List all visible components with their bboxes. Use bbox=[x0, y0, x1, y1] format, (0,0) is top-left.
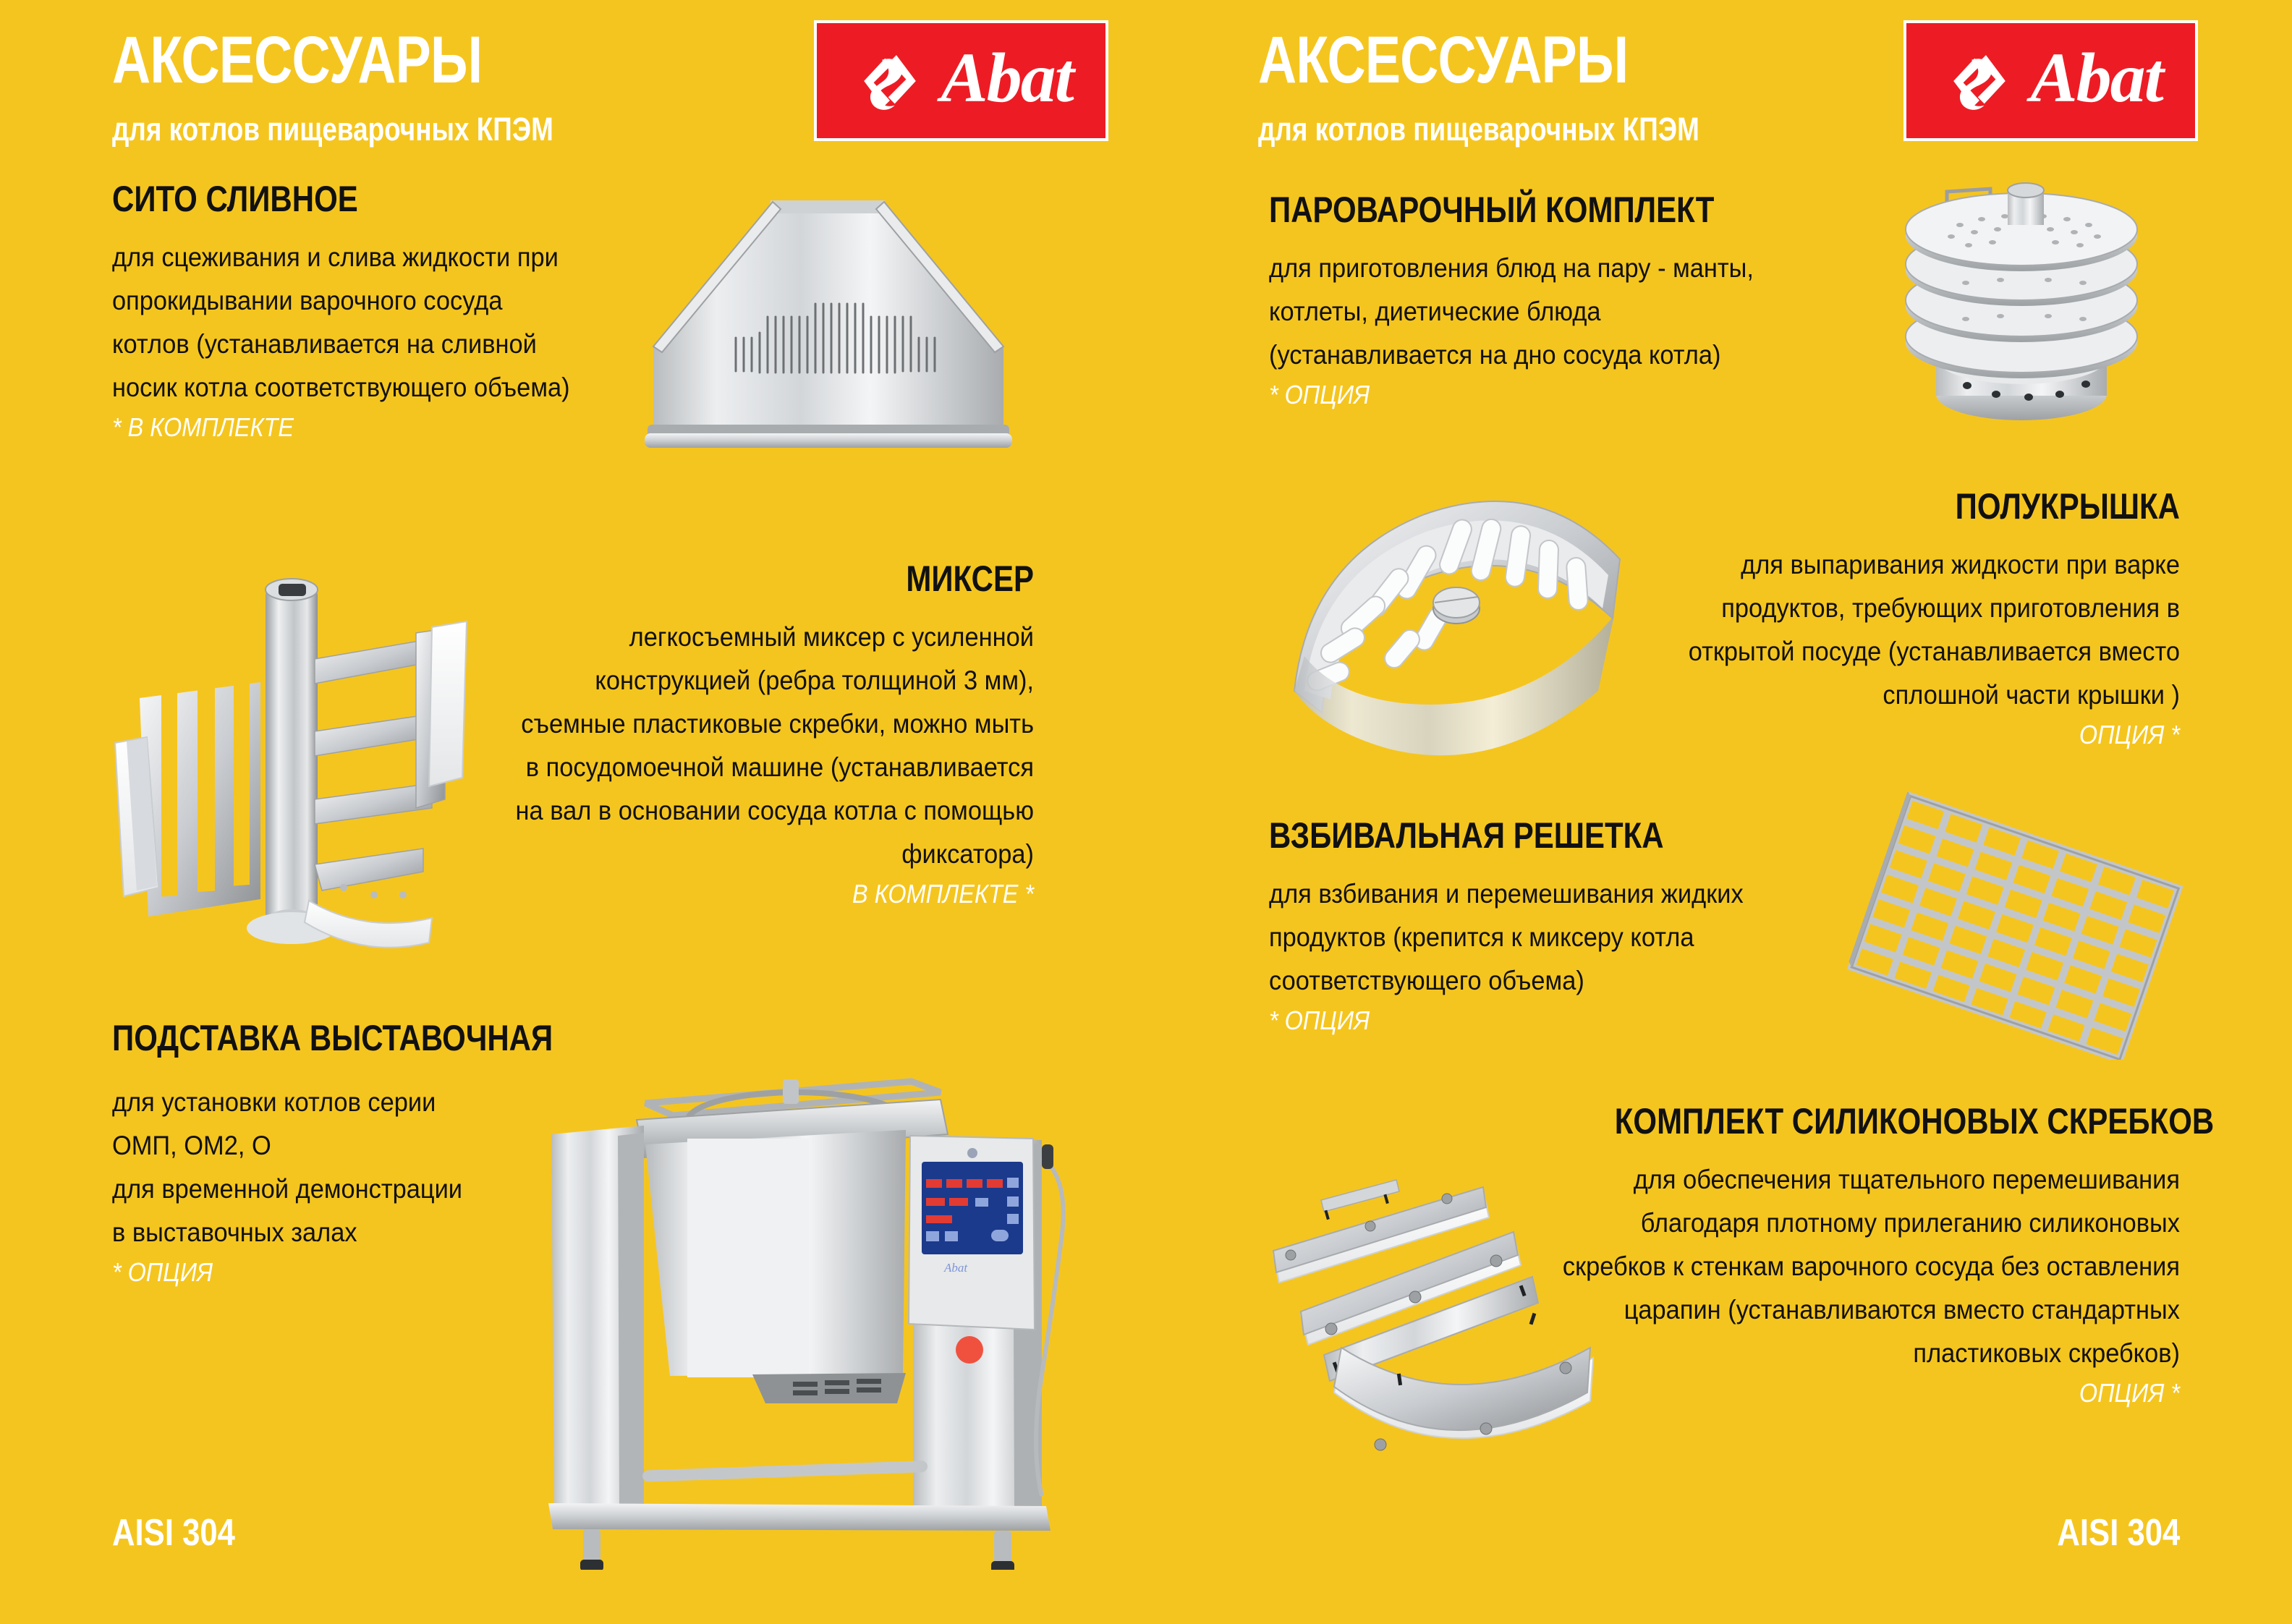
section-sito-slivnoe: СИТО СЛИВНОЕ для сцеживания и слива жидк… bbox=[112, 181, 619, 443]
section-body-line-4: в выставочных залах bbox=[112, 1211, 530, 1254]
exhibition-stand-image: Abat bbox=[535, 1063, 1100, 1573]
left-panel: АКСЕССУАРЫ для котлов пищеварочных КПЭМ … bbox=[0, 0, 1146, 1624]
section-note: ОПЦИЯ * bbox=[1685, 720, 2180, 750]
page-title: АКСЕССУАРЫ bbox=[112, 29, 543, 92]
section-note: * В КОМПЛЕКТЕ bbox=[112, 412, 568, 443]
abat-s-mark-icon bbox=[1939, 41, 2020, 122]
page-title: АКСЕССУАРЫ bbox=[1258, 29, 1689, 92]
left-header: АКСЕССУАРЫ для котлов пищеварочных КПЭМ bbox=[112, 29, 650, 148]
section-note: * ОПЦИЯ bbox=[1269, 380, 1790, 410]
steamer-set-image bbox=[1866, 156, 2177, 470]
section-note: В КОМПЛЕКТЕ * bbox=[519, 879, 1034, 909]
whisking-grid-image bbox=[1819, 792, 2210, 1063]
abat-wordmark: Abat bbox=[2030, 43, 2162, 119]
accessories-brochure: АКСЕССУАРЫ для котлов пищеварочных КПЭМ … bbox=[0, 0, 2292, 1624]
svg-text:Abat: Abat bbox=[943, 1261, 968, 1275]
abat-wordmark: Abat bbox=[941, 43, 1073, 119]
section-vzbivalnaya-reshetka: ВЗБИВАЛЬНАЯ РЕШЕТКА для взбивания и пере… bbox=[1269, 817, 1826, 1036]
section-body-line-2: ОМП, ОМ2, О bbox=[112, 1124, 530, 1168]
drain-sieve-image bbox=[626, 184, 1031, 456]
section-mikser: МИКСЕР легкосъемный миксер с усиленной к… bbox=[462, 561, 1034, 909]
section-body-line-3: для временной демонстрации bbox=[112, 1168, 530, 1211]
page-subtitle: для котлов пищеварочных КПЭМ bbox=[1258, 111, 1699, 148]
section-polukryshka: ПОЛУКРЫШКА для выпаривания жидкости при … bbox=[1630, 488, 2180, 750]
section-title: ПАРОВАРОЧНЫЙ КОМПЛЕКТ bbox=[1269, 192, 1755, 228]
section-title: КОМПЛЕКТ СИЛИКОНОВЫХ СКРЕБКОВ bbox=[1615, 1103, 2180, 1139]
section-body: для приготовления блюд на пару - манты, … bbox=[1269, 247, 1807, 377]
section-title: МИКСЕР bbox=[553, 561, 1034, 597]
page-subtitle: для котлов пищеварочных КПЭМ bbox=[112, 111, 553, 148]
section-note: ОПЦИЯ * bbox=[1574, 1378, 2180, 1408]
mixer-image bbox=[105, 561, 488, 958]
section-title: ПОДСТАВКА ВЫСТАВОЧНАЯ bbox=[112, 1020, 489, 1056]
left-footer-material: AISI 304 bbox=[112, 1511, 235, 1555]
section-body: для взбивания и перемешивания жидких про… bbox=[1269, 872, 1787, 1003]
silicone-scrapers-image bbox=[1231, 1176, 1615, 1483]
section-body: для выпаривания жидкости при варке проду… bbox=[1668, 543, 2180, 717]
section-parovarochnyy-komplekt: ПАРОВАРОЧНЫЙ КОМПЛЕКТ для приготовления … bbox=[1269, 192, 1848, 410]
abat-logo: Abat bbox=[1903, 20, 2198, 141]
half-lid-image bbox=[1280, 474, 1656, 767]
section-note: * ОПЦИЯ bbox=[112, 1257, 516, 1288]
right-header: АКСЕССУАРЫ для котлов пищеварочных КПЭМ bbox=[1258, 29, 1796, 148]
right-footer-material: AISI 304 bbox=[2057, 1511, 2180, 1555]
section-title: ПОЛУКРЫШКА bbox=[1718, 488, 2180, 524]
section-body-line-1: для установки котлов серии bbox=[112, 1081, 530, 1124]
section-title: ВЗБИВАЛЬНАЯ РЕШЕТКА bbox=[1269, 817, 1737, 854]
right-panel: АКСЕССУАРЫ для котлов пищеварочных КПЭМ … bbox=[1146, 0, 2292, 1624]
abat-logo: Abat bbox=[814, 20, 1108, 141]
section-body: для сцеживания и слива жидкости при опро… bbox=[112, 236, 583, 409]
section-body: для обеспечения тщательного перемешивани… bbox=[1554, 1158, 2180, 1375]
abat-s-mark-icon bbox=[849, 41, 930, 122]
section-body: легкосъемный миксер с усиленной конструк… bbox=[502, 616, 1034, 876]
section-podstavka-vystavochnaya: ПОДСТАВКА ВЫСТАВОЧНАЯ для установки котл… bbox=[112, 1020, 561, 1288]
section-note: * ОПЦИЯ bbox=[1269, 1006, 1770, 1036]
section-title: СИТО СЛИВНОЕ bbox=[112, 181, 538, 217]
